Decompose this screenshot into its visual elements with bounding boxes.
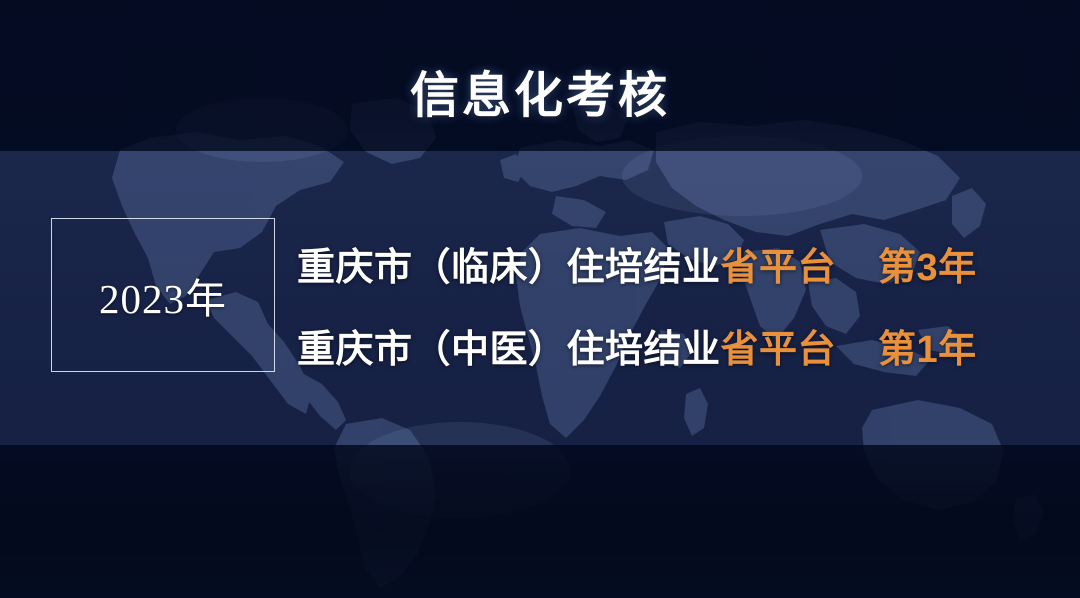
page-title: 信息化考核 <box>0 66 1080 126</box>
item-platform-badge: 省平台 <box>721 236 837 291</box>
achievement-list: 重庆市（临床）住培结业 省平台 第3年 重庆市（中医）住培结业 省平台 第1年 <box>297 222 1057 386</box>
item-platform-badge: 省平台 <box>721 318 837 373</box>
slide-canvas: 信息化考核 2023年 重庆市（临床）住培结业 省平台 第3年 重庆市（中医）住… <box>0 0 1080 598</box>
year-label: 2023年 <box>99 265 227 325</box>
bottom-overlay <box>0 445 1080 598</box>
item-rank-badge: 第3年 <box>878 236 977 291</box>
year-box: 2023年 <box>51 218 275 372</box>
item-rank-badge: 第1年 <box>878 318 977 373</box>
item-description: 重庆市（中医）住培结业 <box>297 318 721 373</box>
list-item: 重庆市（临床）住培结业 省平台 第3年 <box>297 222 1057 304</box>
list-item: 重庆市（中医）住培结业 省平台 第1年 <box>297 304 1057 386</box>
item-description: 重庆市（临床）住培结业 <box>297 236 721 291</box>
